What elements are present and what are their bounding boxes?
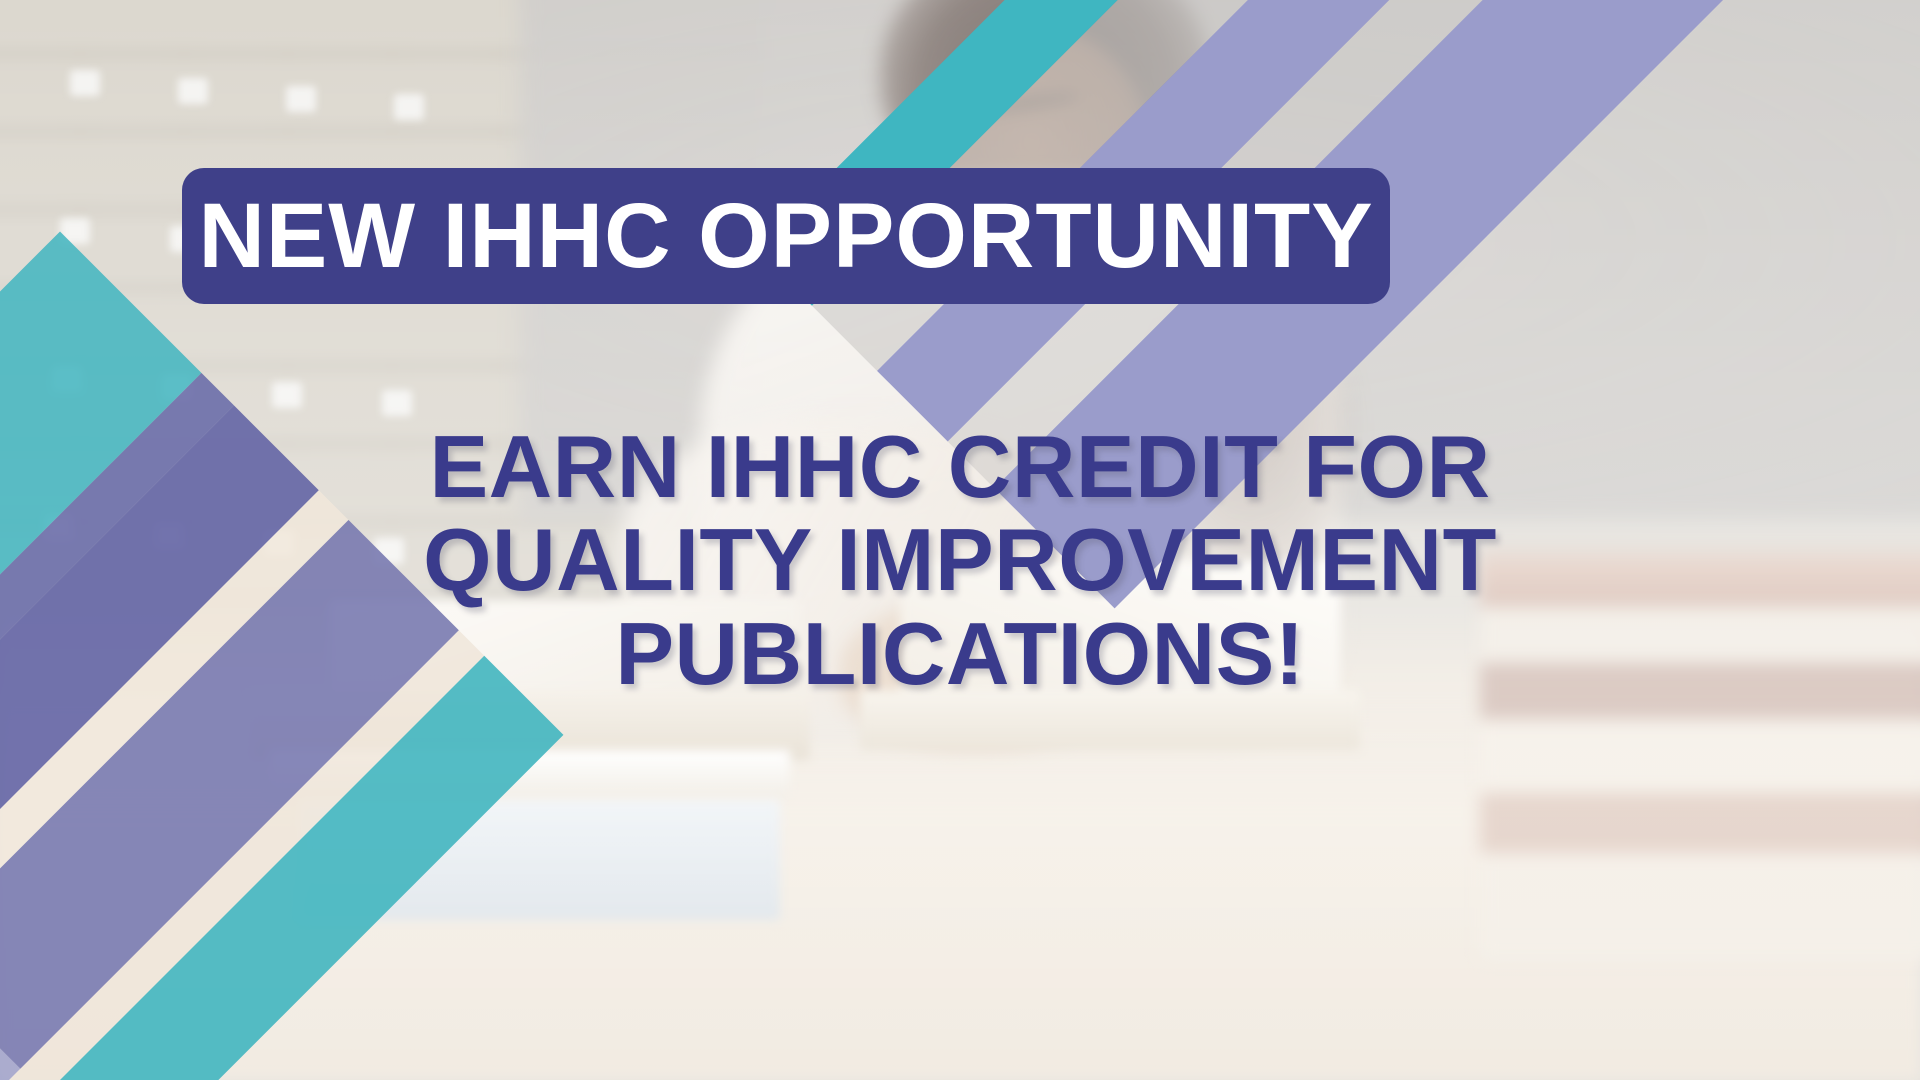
headline-banner: NEW IHHC OPPORTUNITY — [182, 168, 1390, 304]
promotional-poster: NEW IHHC OPPORTUNITY EARN IHHC CREDIT FO… — [0, 0, 1920, 1080]
banner-label: NEW IHHC OPPORTUNITY — [198, 190, 1373, 282]
headline-line-2: QUALITY IMPROVEMENT — [0, 513, 1920, 606]
headline-line-1: EARN IHHC CREDIT FOR — [0, 420, 1920, 513]
page-title: EARN IHHC CREDIT FOR QUALITY IMPROVEMENT… — [0, 420, 1920, 700]
headline-line-3: PUBLICATIONS! — [0, 607, 1920, 700]
